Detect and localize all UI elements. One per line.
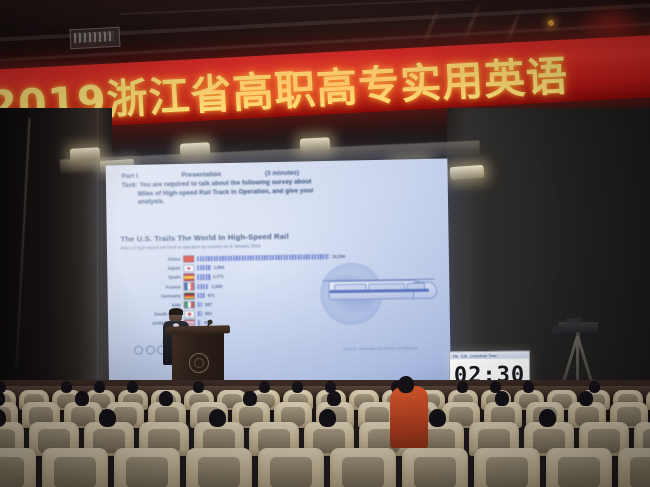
auditorium-seat <box>42 448 108 487</box>
flag-icon-fr <box>184 283 195 291</box>
chart-bar <box>198 293 205 298</box>
auditorium-seat <box>402 448 468 487</box>
audience-member <box>523 381 534 393</box>
audience-member <box>319 409 336 427</box>
audience-member <box>457 381 468 393</box>
chart-bar <box>198 320 201 325</box>
presenter-hair <box>169 308 183 315</box>
chart-bar <box>198 311 202 316</box>
audience-member <box>292 381 303 393</box>
audience-member <box>429 409 446 427</box>
chart-bar <box>197 284 208 289</box>
auditorium-seat <box>114 448 180 487</box>
train-illustration <box>314 255 436 335</box>
auditorium-seat <box>258 448 324 487</box>
audience-member <box>127 381 138 393</box>
audience-member <box>327 391 341 406</box>
audience-member-orange-coat <box>390 386 428 448</box>
chart-bar <box>197 265 211 270</box>
audience-seating <box>0 392 650 487</box>
camera-handle <box>566 318 582 323</box>
audience-member <box>75 391 89 406</box>
audience-member <box>495 391 509 406</box>
chart-value-label: 1,890 <box>214 265 225 270</box>
slide-task-prefix: Task: <box>122 182 138 189</box>
audience-member <box>589 381 600 393</box>
auditorium-seat <box>0 448 36 487</box>
auditorium-photo: 2019浙江省高职高专实用英语 Part I Presentation (3 m… <box>0 0 650 487</box>
audience-member <box>209 409 226 427</box>
stage-spotlight <box>450 165 485 180</box>
audience-member <box>193 381 204 393</box>
chart-category-label: Spain <box>121 275 183 281</box>
audience-member <box>94 381 105 393</box>
audience-member <box>243 391 257 406</box>
chart-category-label: France <box>121 284 183 290</box>
podium-emblem <box>189 353 209 373</box>
timer-window-title: Countdown Timer <box>470 353 497 357</box>
chart-bar <box>197 274 210 279</box>
chart-value-label: 971 <box>208 293 215 298</box>
slide-part-label: Part I <box>122 173 139 182</box>
flag-icon-de <box>184 292 195 300</box>
auditorium-seat <box>474 448 540 487</box>
timer-menu-file[interactable]: File <box>453 354 459 358</box>
chart-category-label: Japan <box>121 266 183 272</box>
chart-category-label: China <box>121 257 183 263</box>
audience-member <box>159 391 173 406</box>
creative-commons-icon <box>134 346 143 355</box>
audience-member <box>579 391 593 406</box>
podium-top <box>166 325 230 335</box>
license-icons <box>134 345 166 354</box>
attribution-icon <box>145 346 154 355</box>
lighting-rig-box <box>70 27 121 50</box>
flag-icon-es <box>183 273 194 281</box>
stage-spotlight <box>70 147 101 162</box>
chart-source-note: Source: International Union of Railways <box>343 346 418 351</box>
amber-lamp-icon <box>548 20 554 26</box>
audience-member <box>539 409 556 427</box>
high-speed-train-icon <box>328 278 431 306</box>
auditorium-seat <box>330 448 396 487</box>
chart-value-label: 1,771 <box>213 274 224 279</box>
stage-spotlight <box>180 142 211 157</box>
auditorium-seat <box>618 448 650 487</box>
slide-duration-label: (3 minutes) <box>265 170 299 179</box>
stage-spotlight <box>300 137 331 152</box>
slide-section-title: Presentation <box>181 171 221 180</box>
projection-screen: Part I Presentation (3 minutes) Task: Yo… <box>106 158 451 386</box>
flag-icon-jp <box>183 264 194 272</box>
flag-icon-it <box>184 301 195 309</box>
slide-task-block: Task: You are required to talk about the… <box>122 176 438 207</box>
audience-member <box>259 381 270 393</box>
chart-bar <box>197 254 329 261</box>
flag-icon-cn <box>183 255 194 263</box>
audience-member <box>398 376 414 393</box>
chart-category-label: Germany <box>121 293 183 299</box>
timer-menu-edit[interactable]: Edit <box>461 354 467 358</box>
audience-member <box>61 381 72 393</box>
chart-value-label: 587 <box>205 302 212 307</box>
camera-lens-icon <box>552 326 561 334</box>
chart-value-label: 1,549 <box>211 283 222 288</box>
chart-bar <box>198 302 202 307</box>
auditorium-seat <box>186 448 252 487</box>
presentation-slide: Part I Presentation (3 minutes) Task: Yo… <box>106 158 451 386</box>
chart-value-label: 551 <box>205 311 212 316</box>
auditorium-seat <box>546 448 612 487</box>
audience-member <box>99 409 116 427</box>
